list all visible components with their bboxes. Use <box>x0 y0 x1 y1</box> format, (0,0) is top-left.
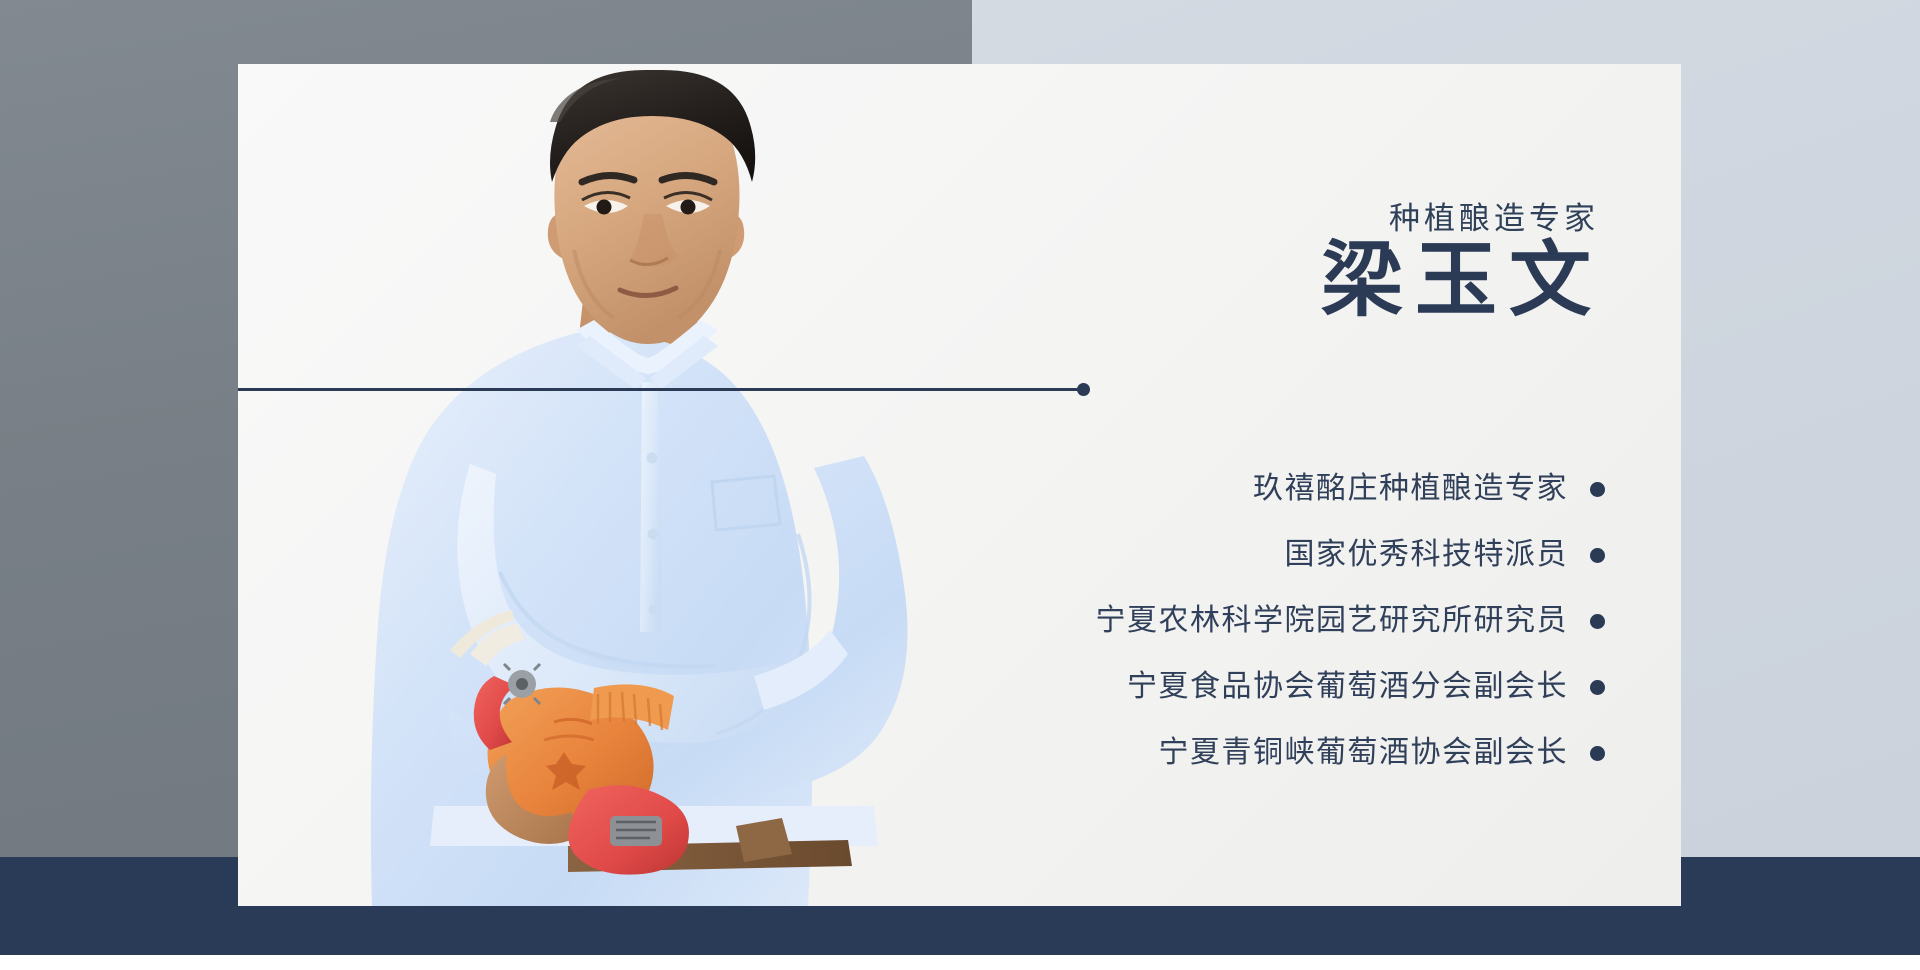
credential-label: 宁夏青铜峡葡萄酒协会副会长 <box>1159 738 1569 768</box>
bullet-dot-icon <box>1590 680 1605 695</box>
list-item: 玖禧酩庄种植酿造专家 <box>1096 456 1606 522</box>
credential-label: 国家优秀科技特派员 <box>1285 540 1569 570</box>
bullet-dot-icon <box>1590 548 1605 563</box>
credential-label: 宁夏农林科学院园艺研究所研究员 <box>1096 606 1569 636</box>
bullet-dot-icon <box>1590 614 1605 629</box>
list-item: 宁夏食品协会葡萄酒分会副会长 <box>1096 654 1606 720</box>
credential-label: 玖禧酩庄种植酿造专家 <box>1253 474 1568 504</box>
credentials-list: 玖禧酩庄种植酿造专家 国家优秀科技特派员 宁夏农林科学院园艺研究所研究员 宁夏食… <box>1096 456 1606 786</box>
person-portrait-photo <box>238 64 938 906</box>
credential-label: 宁夏食品协会葡萄酒分会副会长 <box>1127 672 1568 702</box>
list-item: 宁夏农林科学院园艺研究所研究员 <box>1096 588 1606 654</box>
divider-line <box>238 388 1083 391</box>
role-title: 种植酿造专家 <box>1389 193 1599 238</box>
portrait-illustration <box>238 64 938 906</box>
bullet-dot-icon <box>1590 746 1605 761</box>
profile-text-column: 种植酿造专家 梁玉文 玖禧酩庄种植酿造专家 国家优秀科技特派员 宁夏农林科学院园… <box>921 64 1681 906</box>
background-block-white-strip <box>0 955 1920 970</box>
bullet-dot-icon <box>1077 383 1090 396</box>
page-title: 梁玉文 <box>1321 236 1603 326</box>
profile-banner: 种植酿造专家 梁玉文 玖禧酩庄种植酿造专家 国家优秀科技特派员 宁夏农林科学院园… <box>0 0 1920 970</box>
divider <box>238 382 1681 396</box>
list-item: 宁夏青铜峡葡萄酒协会副会长 <box>1096 720 1606 786</box>
profile-card: 种植酿造专家 梁玉文 玖禧酩庄种植酿造专家 国家优秀科技特派员 宁夏农林科学院园… <box>238 64 1681 906</box>
list-item: 国家优秀科技特派员 <box>1096 522 1606 588</box>
bullet-dot-icon <box>1590 482 1605 497</box>
